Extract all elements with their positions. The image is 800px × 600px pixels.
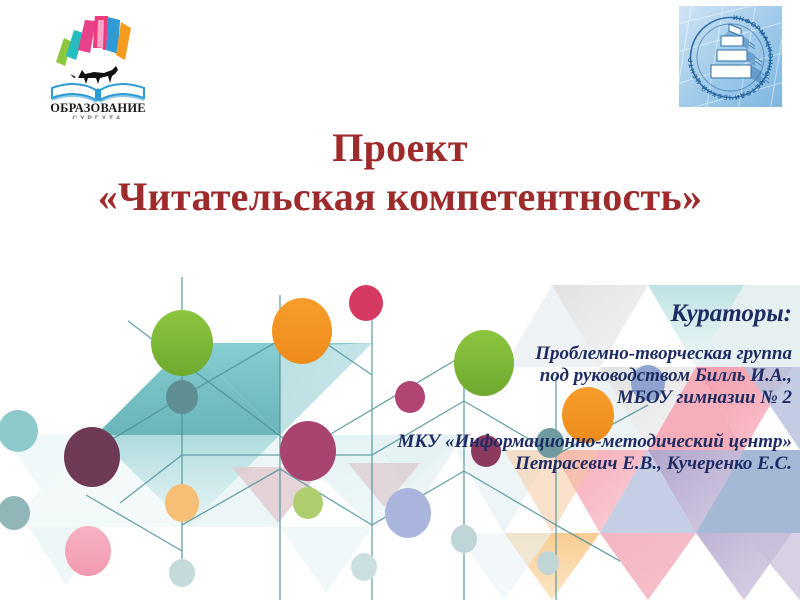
title-line-project: Проект (0, 126, 800, 171)
obrazovanie-surguta-logo: ОБРАЗОВАНИЕ СУРГУТА (38, 4, 158, 119)
credit-group-imc: МКУ «Информационно-методический центр» П… (232, 431, 792, 475)
title-line-name: «Читательская компетентность» (0, 175, 800, 220)
curators-label: Кураторы: (232, 300, 792, 328)
credit-line: МКУ «Информационно-методический центр» (232, 431, 792, 453)
credit-group-school: Проблемно-творческая группа под руководс… (232, 343, 792, 409)
logo-left-line2: СУРГУТА (72, 115, 123, 119)
credit-line: под руководством Билль И.А., (232, 365, 792, 387)
credit-line: Проблемно-творческая группа (232, 343, 792, 365)
credit-line: Петрасевич Е.В., Кучеренко Е.С. (232, 453, 792, 475)
presentation-slide: ОБРАЗОВАНИЕ СУРГУТА (0, 0, 800, 600)
page-title: Проект «Читательская компетентность» (0, 126, 800, 220)
credit-line: МБОУ гимназии № 2 (232, 387, 792, 409)
credits-block: Кураторы: Проблемно-творческая группа по… (232, 300, 792, 475)
logo-left-line1: ОБРАЗОВАНИЕ (50, 101, 146, 115)
informacionno-metodicheskiy-centr-logo: ИНФОРМАЦИОННО-МЕТОДИЧЕСКИЙ ЦЕНТР (679, 6, 782, 107)
